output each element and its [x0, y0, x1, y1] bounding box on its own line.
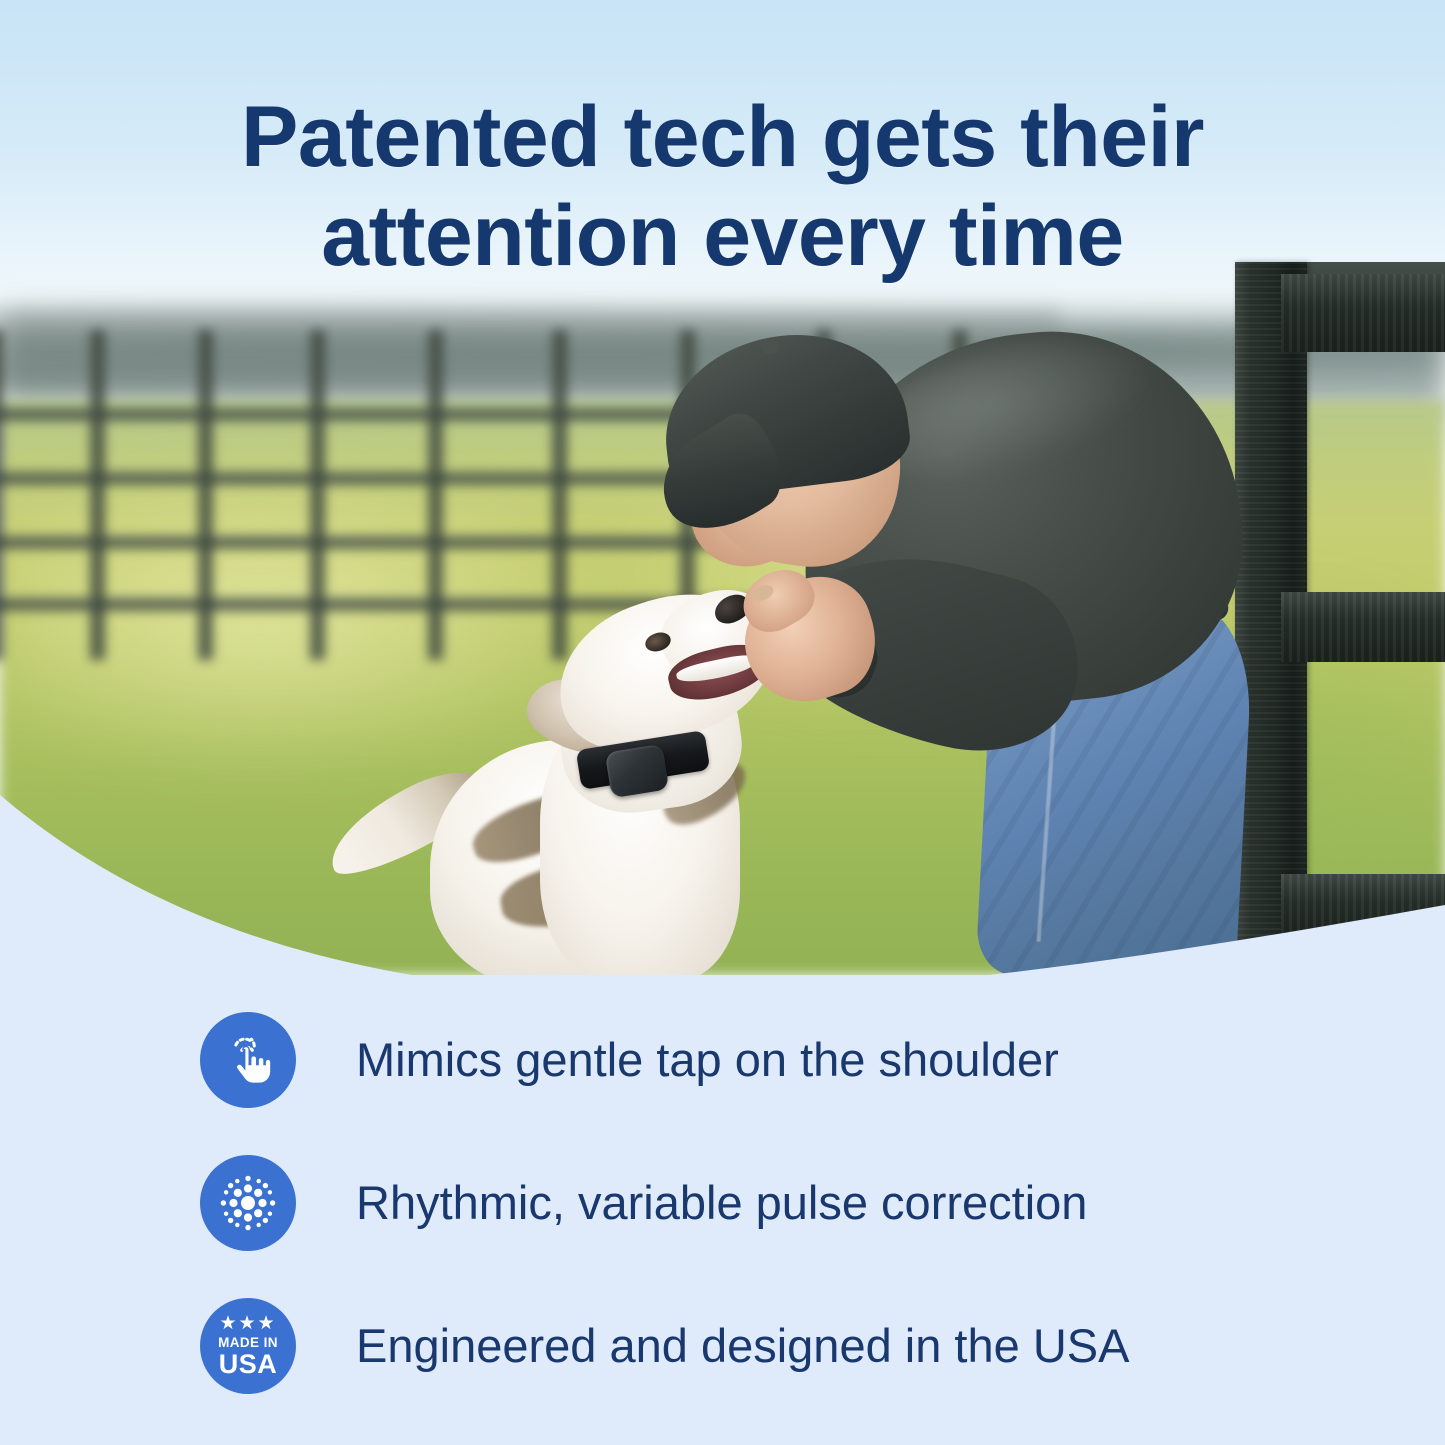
feature-item-tap: Mimics gentle tap on the shoulder — [200, 1012, 1380, 1108]
usa-text: USA — [219, 1350, 278, 1378]
product-feature-panel: Patented tech gets their attention every… — [0, 0, 1445, 1445]
cap-button — [761, 340, 779, 354]
page-headline: Patented tech gets their attention every… — [0, 88, 1445, 286]
feature-label: Mimics gentle tap on the shoulder — [356, 1035, 1059, 1084]
headline-line-1: Patented tech gets their — [0, 88, 1445, 187]
feature-list: Mimics gentle tap on the shoulder — [200, 1012, 1380, 1394]
tap-hand-icon — [200, 1012, 296, 1108]
pulse-burst-icon — [200, 1155, 296, 1251]
feature-label: Engineered and designed in the USA — [356, 1321, 1129, 1370]
feature-item-usa: ★★★ MADE IN USA Engineered and designed … — [200, 1298, 1380, 1394]
usa-stars: ★★★ — [219, 1314, 276, 1333]
feature-item-pulse: Rhythmic, variable pulse correction — [200, 1155, 1380, 1251]
headline-line-2: attention every time — [0, 187, 1445, 286]
feature-label: Rhythmic, variable pulse correction — [356, 1178, 1087, 1227]
usa-made-in-text: MADE IN — [218, 1336, 278, 1350]
made-in-usa-icon: ★★★ MADE IN USA — [200, 1298, 296, 1394]
